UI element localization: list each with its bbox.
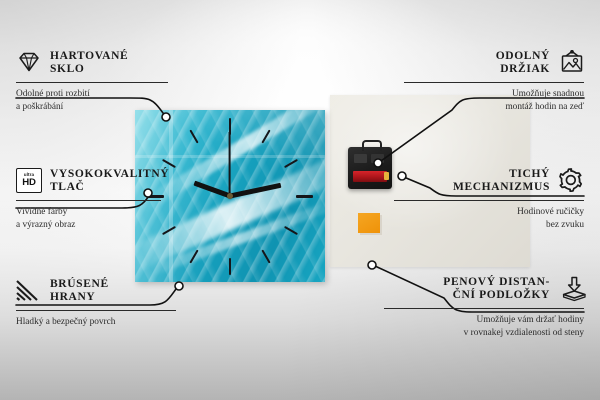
feature-description: Hodinové ručičky bez zvuku (394, 206, 584, 233)
feature-title: VYSOKOKVALITNÝ TLAČ (50, 168, 169, 194)
feature-title-line2: HRANY (50, 291, 109, 304)
feature-description: Odolné proti rozbití a poškrábání (16, 88, 196, 115)
feature-desc-line2: v rovnakej vzdialenosti od steny (384, 327, 584, 340)
feature-title: BRÚSENÉ HRANY (50, 278, 109, 304)
feature-desc-line1: Umožňuje vám držať hodiny (384, 314, 584, 327)
feature-title-line1: BRÚSENÉ (50, 278, 109, 291)
feature-foam-spacers: PENOVÝ DISTAN- ČNÍ PODLOŽKY Umožňuje vám… (384, 276, 584, 341)
divider (16, 82, 168, 83)
feature-desc-line1: Hodinové ručičky (394, 206, 584, 219)
feature-title: HARTOVANÉ SKLO (50, 50, 128, 76)
feature-title-line1: VYSOKOKVALITNÝ (50, 168, 169, 181)
ultra-hd-icon-main-text: HD (22, 178, 35, 188)
product-infographic: HARTOVANÉ SKLO Odolné proti rozbití a po… (0, 0, 600, 400)
feature-title-line2: DRŽIAK (496, 63, 550, 76)
divider (394, 200, 584, 201)
feature-print-quality: ultra HD VYSOKOKVALITNÝ TLAČ Vividné far… (16, 168, 206, 233)
feature-description: Vividné farby a výrazný obraz (16, 206, 206, 233)
ultra-hd-icon: ultra HD (16, 168, 42, 192)
feature-desc-line1: Umožňuje snadnou (404, 88, 584, 101)
divider (384, 308, 584, 309)
callout-dot-foam (368, 261, 376, 269)
foam-pad-icon (558, 276, 584, 300)
feature-title-line2: TLAČ (50, 181, 169, 194)
divider (16, 200, 161, 201)
feature-description: Hladký a bezpečný povrch (16, 316, 216, 329)
feature-desc-line2: a poškrábání (16, 101, 196, 114)
divider (16, 310, 176, 311)
feature-title-line2: ČNÍ PODLOŽKY (443, 289, 550, 302)
feature-polished-edges: BRÚSENÉ HRANY Hladký a bezpečný povrch (16, 278, 216, 329)
feature-description: Umožňuje snadnou montáž hodin na zeď (404, 88, 584, 115)
picture-hanger-icon (558, 50, 584, 74)
brushed-edges-icon (16, 278, 42, 302)
feature-title-line1: HARTOVANÉ (50, 50, 128, 63)
diamond-icon (16, 50, 42, 74)
feature-title: TICHÝ MECHANIZMUS (453, 168, 550, 194)
feature-desc-line1: Odolné proti rozbití (16, 88, 196, 101)
feature-title-line1: TICHÝ (453, 168, 550, 181)
feature-title-line1: ODOLNÝ (496, 50, 550, 63)
feature-durable-hanger: ODOLNÝ DRŽIAK Umožňuje snadnou montáž ho… (404, 50, 584, 115)
feature-description: Umožňuje vám držať hodiny v rovnakej vzd… (384, 314, 584, 341)
feature-title-line2: MECHANIZMUS (453, 181, 550, 194)
feature-title: ODOLNÝ DRŽIAK (496, 50, 550, 76)
divider (404, 82, 584, 83)
feature-hardened-glass: HARTOVANÉ SKLO Odolné proti rozbití a po… (16, 50, 196, 115)
feature-desc-line1: Vividné farby (16, 206, 206, 219)
gear-icon (558, 168, 584, 192)
callout-dot-hanger (374, 159, 382, 167)
feature-title-line1: PENOVÝ DISTAN- (443, 276, 550, 289)
feature-desc-line1: Hladký a bezpečný povrch (16, 316, 216, 329)
feature-title: PENOVÝ DISTAN- ČNÍ PODLOŽKY (443, 276, 550, 302)
feature-silent-mechanism: TICHÝ MECHANIZMUS Hodinové ručičky bez (394, 168, 584, 233)
feature-desc-line2: montáž hodin na zeď (404, 101, 584, 114)
feature-desc-line2: bez zvuku (394, 219, 584, 232)
feature-desc-line2: a výrazný obraz (16, 219, 206, 232)
feature-title-line2: SKLO (50, 63, 128, 76)
